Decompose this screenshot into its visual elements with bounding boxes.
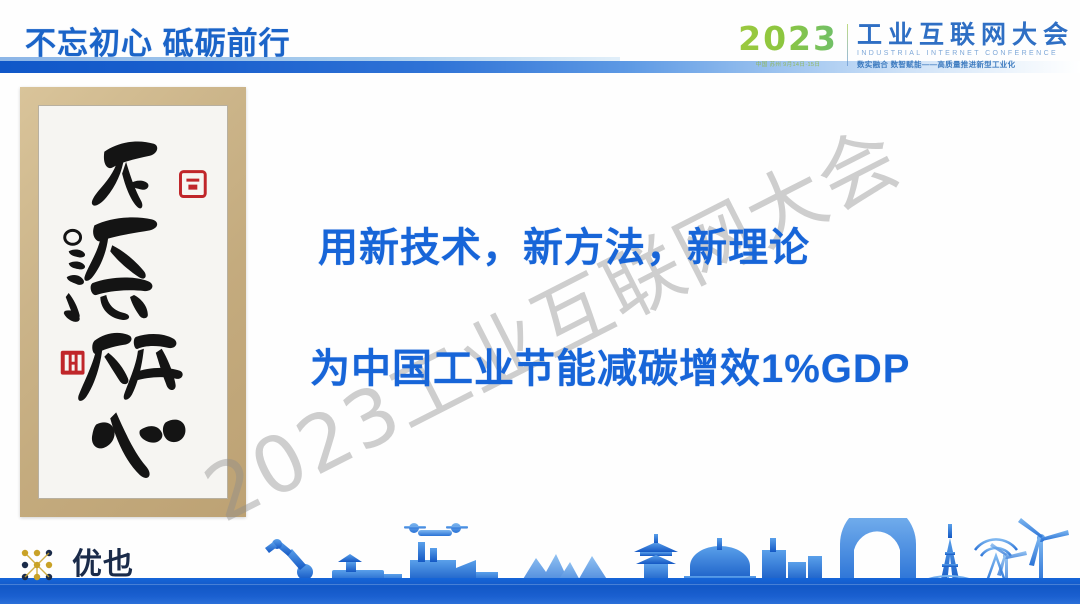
- pagoda-icon: [634, 534, 678, 584]
- conference-name-cn: 工业互联网大会: [857, 22, 1074, 48]
- conference-logo-name-block: 工业互联网大会 INDUSTRIAL INTERNET CONFERENCE 数…: [857, 22, 1074, 70]
- conference-tagline: 数实融合 数智赋能——高质量推进新型工业化: [857, 59, 1074, 70]
- dot-network-icon: [20, 548, 64, 582]
- calligraphy-strokes-icon: [39, 106, 227, 498]
- drone-icon: [404, 523, 468, 536]
- company-logo: 优也: [20, 548, 134, 582]
- gate-of-the-orient-icon: [840, 518, 916, 584]
- calligraphy-paper: [38, 105, 228, 499]
- water-band: [0, 578, 1080, 604]
- seal-bottom-icon: [61, 351, 85, 375]
- conference-logo-year-block: 2023 中国 苏州 9月14日·15日: [738, 22, 847, 68]
- calligraphy-artwork-frame: [20, 87, 246, 517]
- tower-icon: [940, 524, 960, 584]
- conference-date-location: 中国 苏州 9月14日·15日: [756, 59, 820, 67]
- company-name: 优也: [72, 550, 134, 580]
- wind-turbine-icon: [1018, 518, 1069, 584]
- main-line-2: 为中国工业节能减碳增效1%GDP: [310, 346, 1010, 393]
- city-skyline-icon: [0, 518, 1080, 586]
- bottom-decorative-band: [0, 518, 1080, 604]
- main-message: 用新技术，新方法，新理论 为中国工业节能减碳增效1%GDP: [310, 225, 1010, 393]
- conference-year: 2023: [738, 22, 838, 55]
- main-line-1: 用新技术，新方法，新理论: [318, 225, 1010, 272]
- logo-divider: [847, 24, 848, 66]
- conference-name-en: INDUSTRIAL INTERNET CONFERENCE: [857, 50, 1074, 57]
- presentation-slide: 不忘初心 砥砺前行 2023 中国 苏州 9月14日·15日 工业互联网大会 I…: [0, 0, 1080, 604]
- conference-logo: 2023 中国 苏州 9月14日·15日 工业互联网大会 INDUSTRIAL …: [738, 22, 1074, 70]
